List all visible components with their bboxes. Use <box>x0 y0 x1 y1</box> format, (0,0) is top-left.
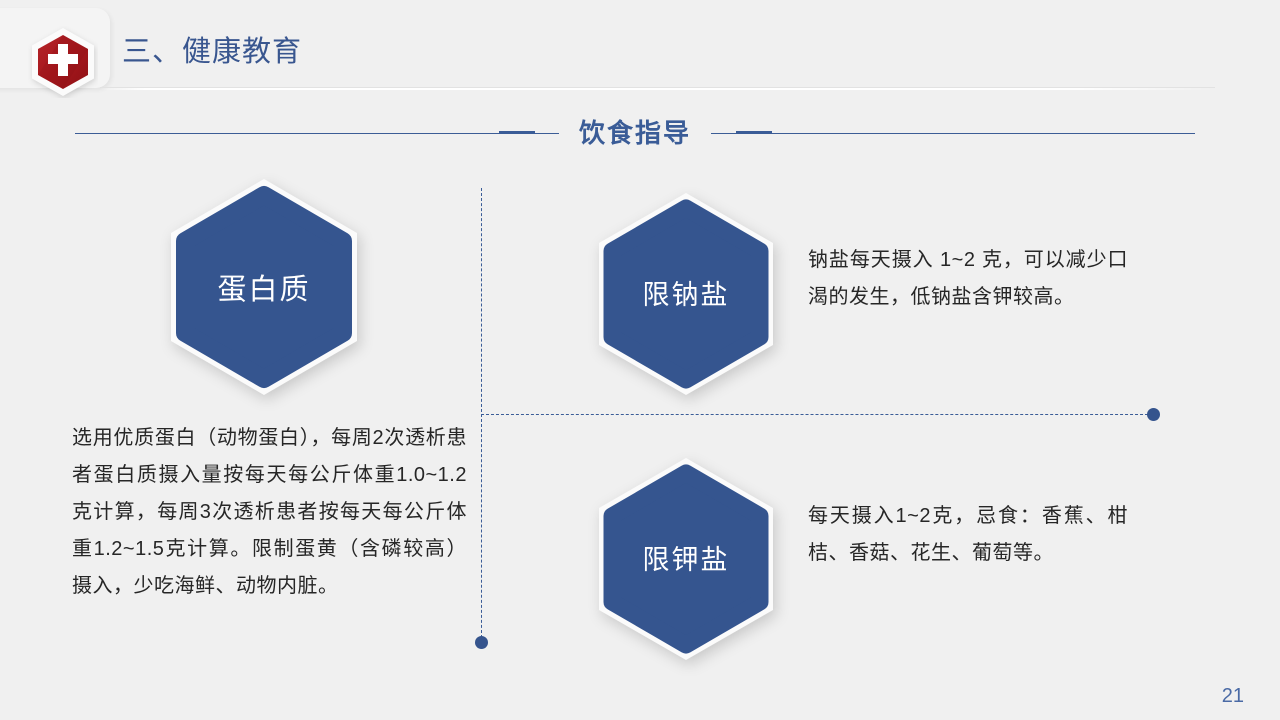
connector-dot-right <box>1147 408 1160 421</box>
connector-vertical-dashed-line <box>481 188 482 643</box>
hexagon-label-protein: 蛋白质 <box>168 276 360 305</box>
section-dash-left <box>499 131 535 134</box>
connector-dot-bottom <box>475 636 488 649</box>
hexagon-card-sodium[interactable]: 限钠盐 <box>596 190 776 398</box>
section-title-bar: 饮食指导 <box>75 110 1195 158</box>
header-divider <box>100 87 1215 90</box>
hexagon-label-sodium: 限钠盐 <box>596 282 776 309</box>
section-title: 饮食指导 <box>559 110 711 156</box>
slide-root: 三、健康教育 饮食指导 蛋白质 限钠盐 限钾盐 选用优质蛋白（动 <box>0 0 1280 720</box>
page-number: 21 <box>1222 686 1244 706</box>
hexagon-label-potassium: 限钾盐 <box>596 547 776 574</box>
connector-horizontal-dashed-line <box>481 414 1153 415</box>
description-protein: 选用优质蛋白（动物蛋白），每周2次透析患者蛋白质摄入量按每天每公斤体重1.0~1… <box>72 420 467 605</box>
page-title: 三、健康教育 <box>122 38 302 67</box>
hexagon-card-protein[interactable]: 蛋白质 <box>168 176 360 398</box>
hexagon-card-potassium[interactable]: 限钾盐 <box>596 455 776 663</box>
medical-cross-hexagon-icon <box>28 26 98 98</box>
slide-header: 三、健康教育 <box>0 0 1280 96</box>
description-potassium: 每天摄入1~2克，忌食：香蕉、柑桔、香菇、花生、葡萄等。 <box>808 498 1128 572</box>
description-sodium: 钠盐每天摄入 1~2 克，可以减少口渴的发生，低钠盐含钾较高。 <box>808 242 1128 316</box>
section-dash-right <box>736 131 772 134</box>
